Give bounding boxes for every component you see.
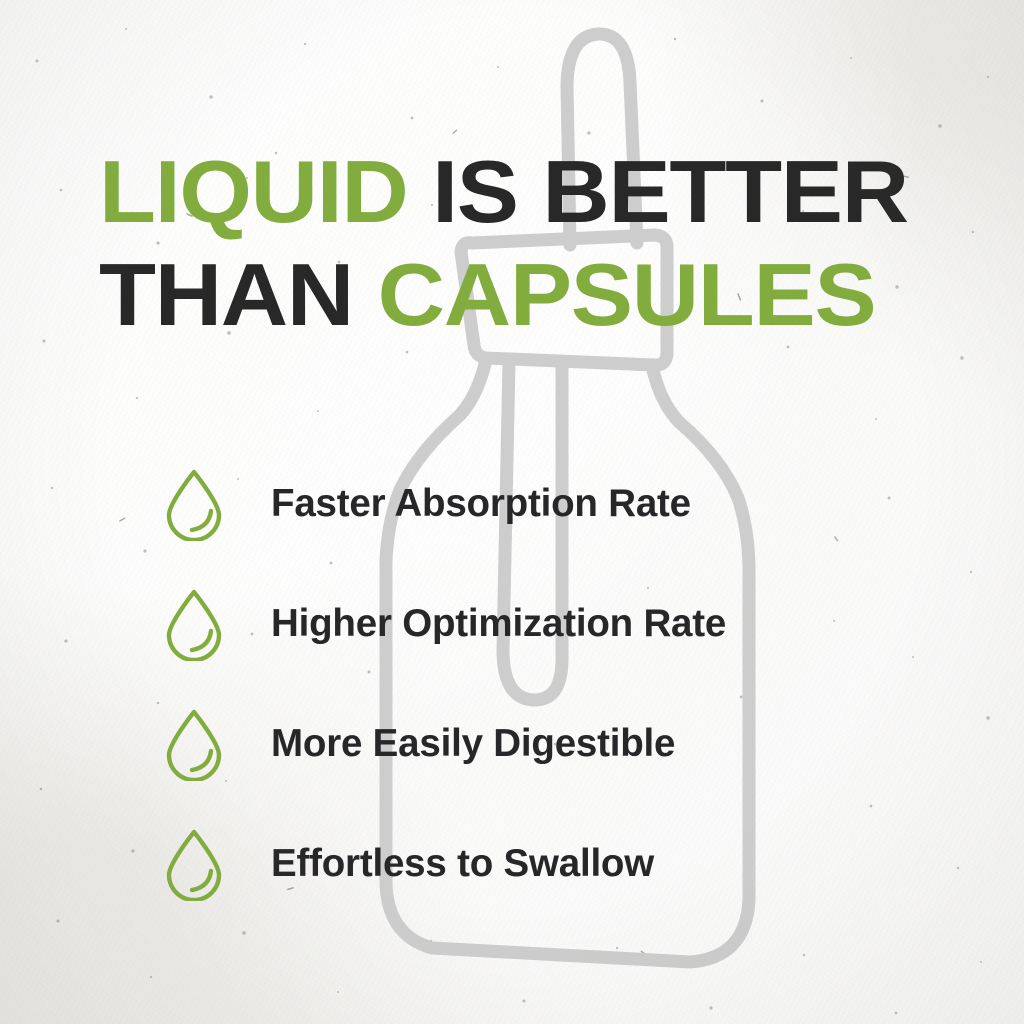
headline-phrase-is-better: IS BETTER — [432, 142, 908, 241]
benefits-list: Faster Absorption Rate Higher Optimizati… — [163, 444, 953, 924]
benefit-item-1: Faster Absorption Rate — [163, 444, 953, 564]
benefit-item-2: Higher Optimization Rate — [163, 564, 953, 684]
droplet-icon — [163, 707, 225, 781]
headline-line-1: LIQUID IS BETTER — [99, 148, 1011, 235]
benefit-label: Effortless to Swallow — [271, 845, 654, 884]
droplet-icon — [163, 827, 225, 901]
benefit-label: More Easily Digestible — [271, 725, 675, 764]
headline-word-capsules: CAPSULES — [378, 245, 876, 344]
benefit-item-3: More Easily Digestible — [163, 684, 953, 804]
headline-word-liquid: LIQUID — [99, 142, 407, 241]
benefit-label: Higher Optimization Rate — [271, 605, 726, 644]
headline-line-2: THAN CAPSULES — [99, 251, 1011, 338]
poster-canvas: LIQUID IS BETTER THAN CAPSULES Faster Ab… — [0, 0, 1024, 1024]
page-title: LIQUID IS BETTER THAN CAPSULES — [99, 148, 959, 338]
droplet-icon — [163, 467, 225, 541]
droplet-icon — [163, 587, 225, 661]
benefit-item-4: Effortless to Swallow — [163, 804, 953, 924]
headline-word-than: THAN — [99, 245, 353, 344]
benefit-label: Faster Absorption Rate — [271, 485, 691, 524]
